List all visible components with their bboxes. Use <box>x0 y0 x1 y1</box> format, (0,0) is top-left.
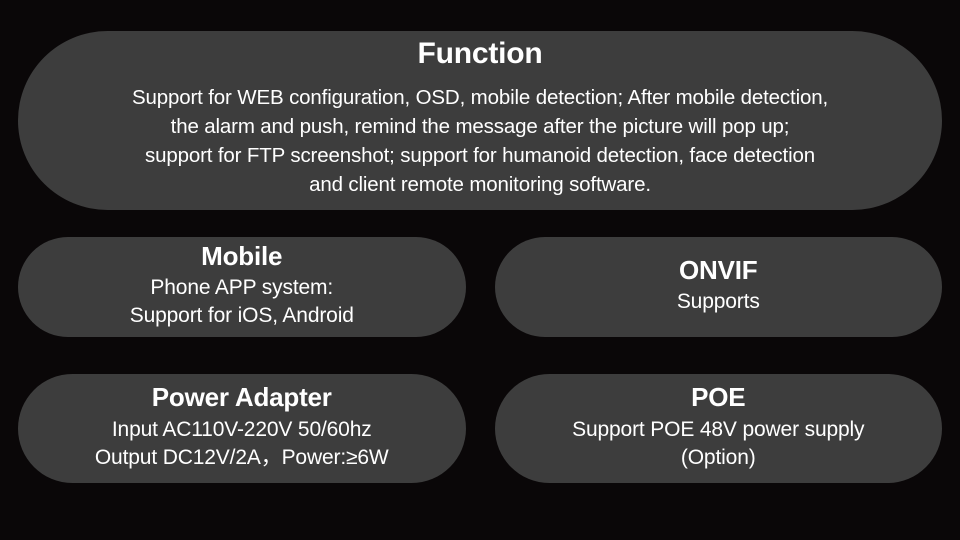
power-poe-row: Power Adapter Input AC110V-220V 50/60hz … <box>18 374 942 483</box>
card-onvif-title: ONVIF <box>679 256 757 285</box>
card-power-adapter-title: Power Adapter <box>152 383 332 412</box>
card-poe-body-line: Support POE 48V power supply <box>572 416 864 444</box>
card-mobile-title: Mobile <box>201 242 282 271</box>
card-power-adapter-body-line: Output DC12V/2A，Power:≥6W <box>95 444 389 472</box>
card-function-body-line: the alarm and push, remind the message a… <box>132 112 828 141</box>
card-onvif-body: Supports <box>677 288 760 316</box>
card-function-body-line: Support for WEB configuration, OSD, mobi… <box>132 83 828 112</box>
card-onvif: ONVIF Supports <box>495 237 943 337</box>
card-mobile: Mobile Phone APP system: Support for iOS… <box>18 237 466 337</box>
card-function: Function Support for WEB configuration, … <box>18 31 942 210</box>
card-poe: POE Support POE 48V power supply (Option… <box>495 374 943 483</box>
card-mobile-body: Phone APP system: Support for iOS, Andro… <box>130 274 354 330</box>
card-power-adapter-body-line: Input AC110V-220V 50/60hz <box>95 416 389 444</box>
card-poe-title: POE <box>691 383 745 412</box>
card-power-adapter-body: Input AC110V-220V 50/60hz Output DC12V/2… <box>95 416 389 472</box>
card-power-adapter: Power Adapter Input AC110V-220V 50/60hz … <box>18 374 466 483</box>
card-onvif-body-line: Supports <box>677 288 760 316</box>
card-poe-body: Support POE 48V power supply (Option) <box>572 416 864 472</box>
card-mobile-body-line: Phone APP system: <box>130 274 354 302</box>
card-function-body-line: support for FTP screenshot; support for … <box>132 141 828 170</box>
specification-sheet: Function Support for WEB configuration, … <box>0 0 960 540</box>
function-row: Function Support for WEB configuration, … <box>18 31 942 210</box>
card-function-body-line: and client remote monitoring software. <box>132 170 828 199</box>
card-mobile-body-line: Support for iOS, Android <box>130 302 354 330</box>
card-function-body: Support for WEB configuration, OSD, mobi… <box>132 83 828 199</box>
mobile-onvif-row: Mobile Phone APP system: Support for iOS… <box>18 237 942 337</box>
card-function-title: Function <box>417 38 542 70</box>
card-poe-body-line: (Option) <box>572 444 864 472</box>
